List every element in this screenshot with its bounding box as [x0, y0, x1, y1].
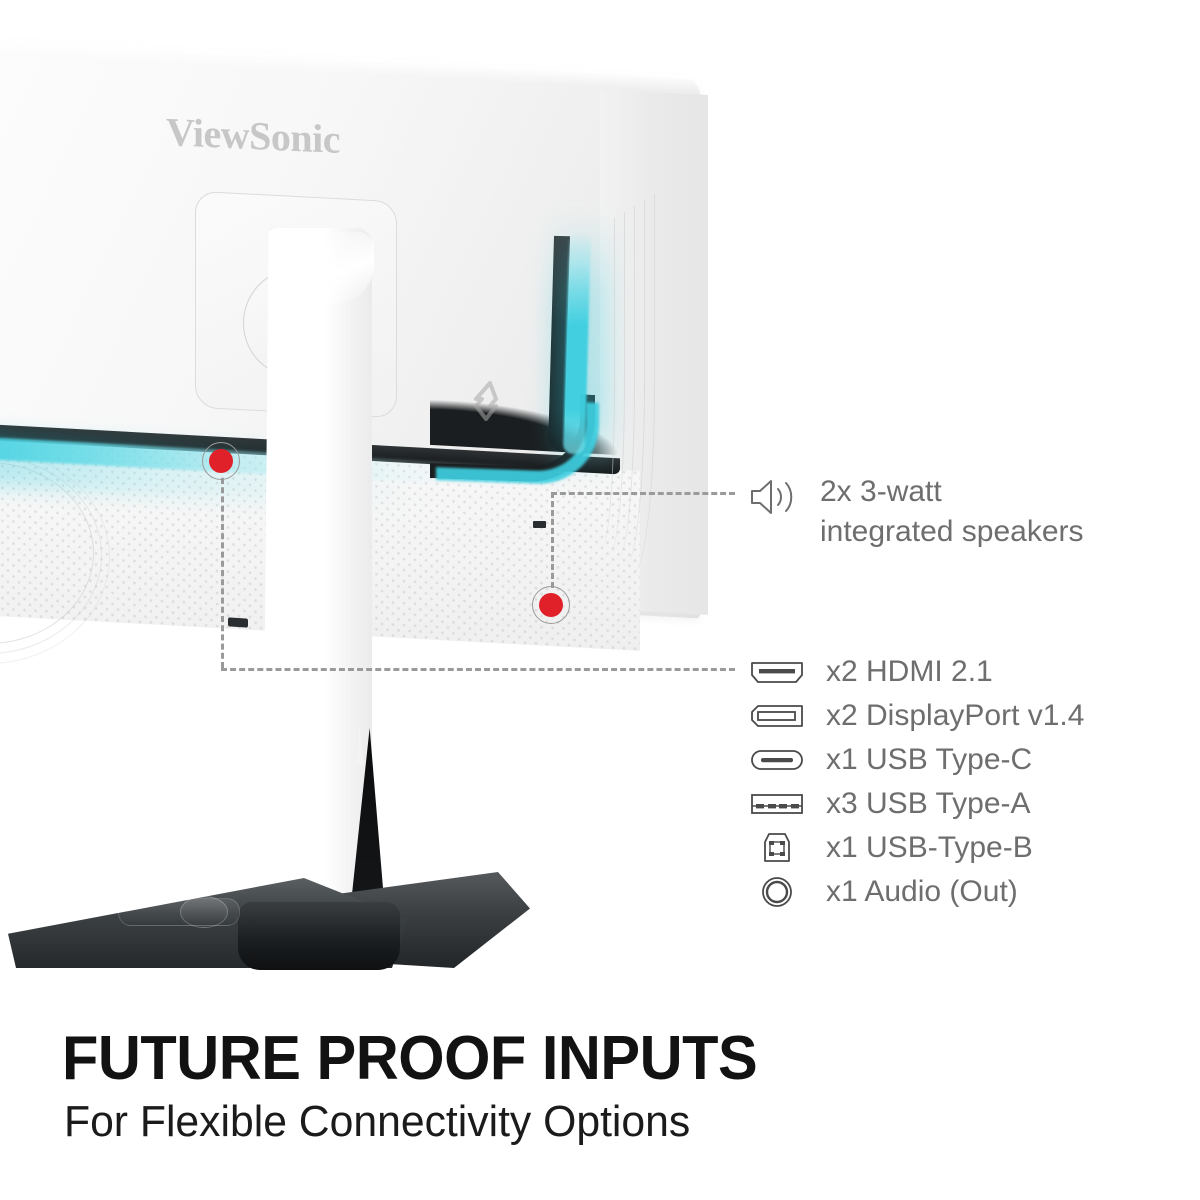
speaker-callout-text: 2x 3-watt integrated speakers	[820, 472, 1084, 551]
audio-out-port-icon	[748, 875, 806, 909]
leader-line-ports-horizontal	[221, 668, 735, 671]
vent-mark-left	[228, 617, 248, 627]
port-row-usb-c: x1 USB Type-C	[748, 740, 1084, 780]
usb-type-c-port-icon	[748, 747, 806, 773]
usb-type-a-port-icon	[748, 791, 806, 817]
port-row-hdmi: x2 HDMI 2.1	[748, 652, 1084, 692]
port-row-usb-b: x1 USB-Type-B	[748, 828, 1084, 868]
monitor-product-image: ViewSonic	[0, 0, 760, 1000]
vent-mark-right	[533, 521, 546, 528]
port-label-usb-b: x1 USB-Type-B	[826, 831, 1033, 865]
port-label-usb-a: x3 USB Type-A	[826, 787, 1031, 821]
viewsonic-gaming-diamond-emblem	[466, 378, 506, 424]
callout-marker-dot-speaker	[539, 593, 563, 617]
port-row-usb-a: x3 USB Type-A	[748, 784, 1084, 824]
port-label-hdmi: x2 HDMI 2.1	[826, 655, 993, 689]
product-infographic: ViewSonic 2x 3-watt	[0, 0, 1200, 1200]
page-subheadline: For Flexible Connectivity Options	[64, 1100, 690, 1144]
leader-line-speaker-horizontal	[551, 492, 735, 495]
usb-type-b-port-icon	[748, 831, 806, 865]
speaker-callout-line1: 2x 3-watt	[820, 475, 942, 508]
port-row-audio-out: x1 Audio (Out)	[748, 872, 1084, 912]
contour-line-5	[612, 194, 655, 572]
hdmi-port-icon	[748, 658, 806, 686]
leader-line-ports-vertical	[221, 478, 224, 668]
port-row-displayport: x2 DisplayPort v1.4	[748, 696, 1084, 736]
port-list: x2 HDMI 2.1 x2 DisplayPort v1.4 x1 USB T…	[748, 652, 1084, 912]
viewsonic-logo: ViewSonic	[166, 108, 340, 163]
page-headline: FUTURE PROOF INPUTS	[62, 1028, 757, 1090]
displayport-port-icon	[748, 702, 806, 730]
monitor-joystick-control[interactable]	[180, 896, 228, 928]
port-label-usb-c: x1 USB Type-C	[826, 743, 1032, 777]
speaker-callout: 2x 3-watt integrated speakers	[748, 472, 1084, 551]
leader-line-speaker-vertical	[551, 492, 554, 588]
port-label-displayport: x2 DisplayPort v1.4	[826, 699, 1084, 733]
speaker-icon	[748, 476, 796, 523]
port-label-audio-out: x1 Audio (Out)	[826, 875, 1018, 909]
callout-marker-dot-ports	[209, 449, 233, 473]
monitor-stand-base-hub	[238, 902, 400, 970]
monitor-stand-neck	[262, 228, 372, 948]
speaker-callout-line2: integrated speakers	[820, 515, 1084, 548]
